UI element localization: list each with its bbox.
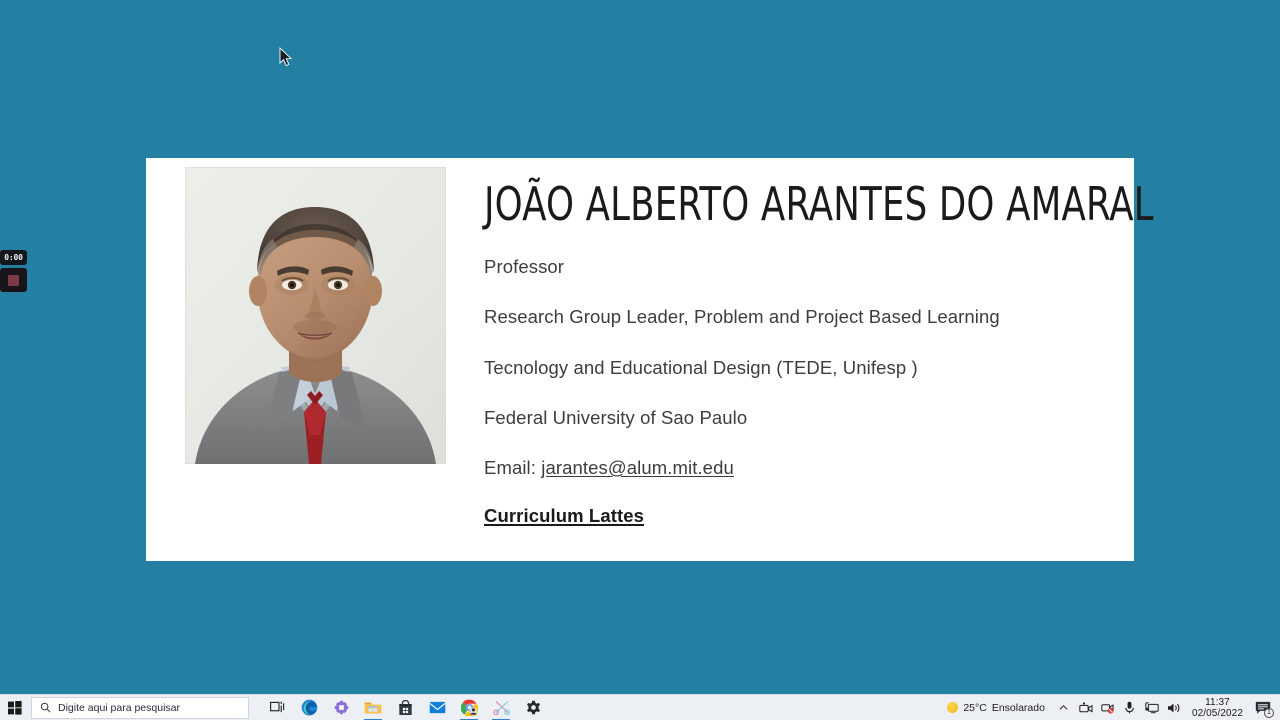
camera-icon: [1079, 702, 1093, 714]
email-link[interactable]: jarantes@alum.mit.edu: [541, 457, 734, 478]
scissors-icon: [493, 700, 510, 715]
page-title: JOÃO ALBERTO ARANTES DO AMARAL: [484, 180, 1154, 228]
clock-date: 02/05/2022: [1192, 708, 1243, 719]
slide-line-lattes: Curriculum Lattes: [484, 505, 1263, 527]
volume-icon: [1167, 702, 1181, 714]
taskbar-icons: [261, 695, 943, 720]
stop-recording-button[interactable]: [0, 268, 27, 292]
tray-network-display-icon[interactable]: [1141, 695, 1163, 720]
slide-line-email: Email: jarantes@alum.mit.edu: [484, 456, 1263, 479]
system-tray: 25°C Ensolarado: [943, 695, 1276, 720]
screen-recorder-widget[interactable]: 0:00: [0, 250, 27, 292]
profile-photo: [185, 167, 446, 464]
taskbar-item-mail[interactable]: [421, 695, 453, 720]
taskbar-item-settings[interactable]: [517, 695, 549, 720]
weather-condition: Ensolarado: [992, 702, 1045, 714]
network-display-icon: [1145, 702, 1159, 714]
recording-timer: 0:00: [0, 250, 27, 265]
tray-microphone-icon[interactable]: [1119, 695, 1141, 720]
windows-logo-icon: [8, 701, 22, 715]
portrait-illustration: [185, 167, 446, 464]
mail-icon: [429, 701, 446, 714]
tray-camera-icon[interactable]: [1075, 695, 1097, 720]
tray-camera-off-icon[interactable]: [1097, 695, 1119, 720]
stop-square-icon: [8, 275, 19, 286]
microsoft-edge-icon: [301, 699, 318, 716]
search-placeholder: Digite aqui para pesquisar: [58, 702, 180, 714]
clock-time: 11:37: [1192, 697, 1243, 708]
email-label: Email:: [484, 457, 541, 478]
taskbar-item-snipping-tool[interactable]: [485, 695, 517, 720]
slide-line-university: Federal University of Sao Paulo: [484, 406, 1263, 429]
chevron-up-icon: [1059, 704, 1068, 711]
taskbar-item-file-explorer[interactable]: [357, 695, 389, 720]
weather-temperature: 25°C: [963, 702, 986, 714]
slide-line-research-group: Research Group Leader, Problem and Proje…: [484, 305, 1263, 328]
weather-widget[interactable]: 25°C Ensolarado: [943, 702, 1053, 714]
taskbar-item-task-view[interactable]: [261, 695, 293, 720]
taskbar-item-google-chrome[interactable]: [453, 695, 485, 720]
google-chrome-icon: [461, 699, 478, 716]
microsoft-store-icon: [398, 700, 413, 716]
taskbar-item-cortana[interactable]: [325, 695, 357, 720]
desktop-background: 0:00: [0, 0, 1280, 694]
slide-line-role: Professor: [484, 255, 1263, 278]
search-input[interactable]: Digite aqui para pesquisar: [31, 697, 249, 719]
presentation-slide: JOÃO ALBERTO ARANTES DO AMARAL Professor…: [146, 158, 1134, 561]
slide-text-column: JOÃO ALBERTO ARANTES DO AMARAL Professor…: [484, 180, 1280, 527]
taskbar: Digite aqui para pesquisar: [0, 694, 1280, 720]
mouse-cursor: [279, 47, 293, 67]
task-view-icon: [270, 701, 285, 714]
sun-icon: [947, 702, 958, 713]
gear-icon: [526, 700, 541, 715]
show-hidden-icons-button[interactable]: [1053, 695, 1075, 720]
curriculum-lattes-link[interactable]: Curriculum Lattes: [484, 505, 644, 526]
notification-badge: 1: [1264, 708, 1274, 718]
camera-off-icon: [1101, 702, 1115, 714]
file-explorer-icon: [364, 700, 382, 715]
taskbar-item-microsoft-edge[interactable]: [293, 695, 325, 720]
flower-icon: [334, 700, 349, 715]
clock[interactable]: 11:37 02/05/2022: [1185, 697, 1250, 719]
notification-center-button[interactable]: 1: [1250, 695, 1276, 720]
taskbar-item-microsoft-store[interactable]: [389, 695, 421, 720]
search-icon: [40, 702, 51, 713]
tray-volume-icon[interactable]: [1163, 695, 1185, 720]
microphone-icon: [1124, 701, 1135, 714]
slide-line-tede: Tecnology and Educational Design (TEDE, …: [484, 356, 1263, 379]
start-button[interactable]: [0, 695, 30, 720]
